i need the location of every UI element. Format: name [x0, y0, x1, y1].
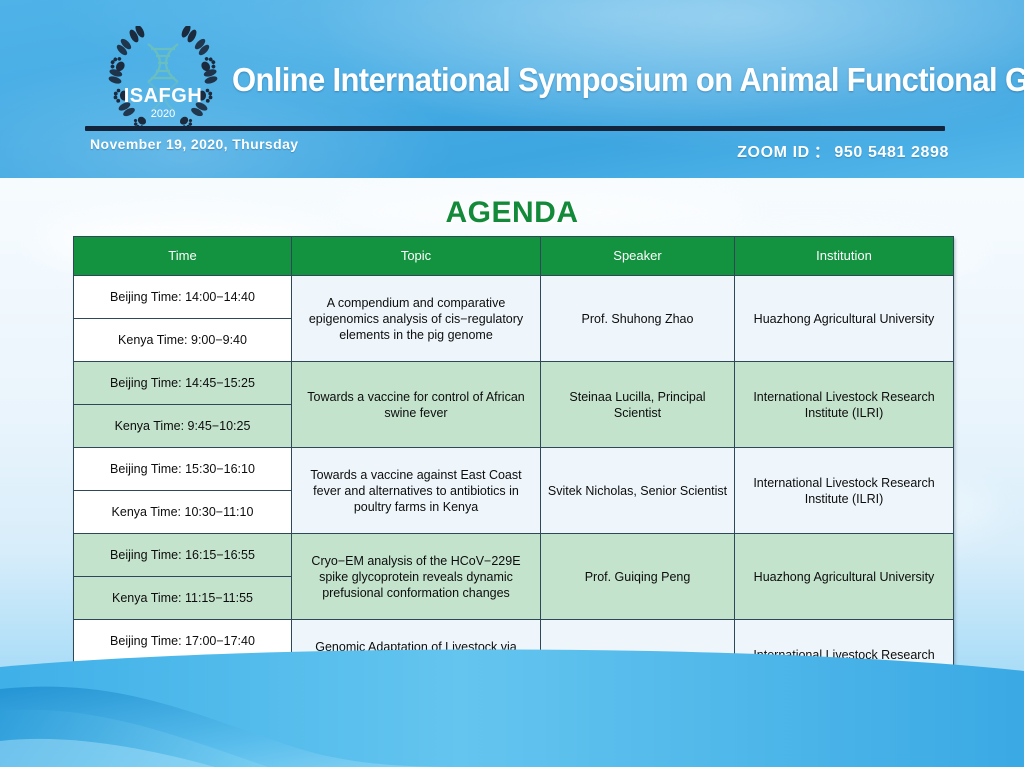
- institution-cell: Huazhong Agricultural University: [735, 276, 954, 362]
- beijing-time-cell: Beijing Time: 17:45−18:25: [74, 706, 292, 749]
- topic-cell: Towards a vaccine for control of African…: [292, 362, 541, 448]
- kenya-time-cell: Kenya Time: 10:30−11:10: [74, 491, 292, 534]
- institution-cell: International Livestock Research Institu…: [735, 362, 954, 448]
- kenya-time-cell: Kenya Time: 9:45−10:25: [74, 405, 292, 448]
- event-date: November 19, 2020, Thursday: [90, 136, 298, 152]
- beijing-time-cell: Beijing Time: 17:00−17:40: [74, 620, 292, 663]
- zoom-id-separator: ：: [814, 144, 831, 161]
- topic-cell: Genomic Adaptation of Livestock via Long…: [292, 620, 541, 706]
- column-header-speaker: Speaker: [541, 237, 735, 276]
- table-row: Beijing Time: 14:45−15:25Towards a vacci…: [74, 362, 954, 405]
- institution-cell: Huazhong Agricultural University: [735, 706, 954, 767]
- speaker-cell: Jianlin Han, Principal Scientist: [541, 620, 735, 706]
- topic-cell: A compendium and comparative epigenomics…: [292, 276, 541, 362]
- kenya-time-cell: Kenya Time: 11:15−11:55: [74, 577, 292, 620]
- topic-cell: Cryo−EM analysis of the HCoV−229E spike …: [292, 534, 541, 620]
- isafgh-logo: ISAFGH 2020: [100, 26, 226, 136]
- kenya-time-cell: Kenya Time: 12:45−13:25: [74, 749, 292, 767]
- zoom-id-label: ZOOM ID: [737, 144, 810, 161]
- beijing-time-cell: Beijing Time: 15:30−16:10: [74, 448, 292, 491]
- speaker-cell: Prof. Shuhong Zhao: [541, 276, 735, 362]
- event-title: Online International Symposium on Animal…: [232, 60, 918, 100]
- kenya-time-cell: Kenya Time: 12:00−12:40: [74, 663, 292, 706]
- table-row: Beijing Time: 17:00−17:40Genomic Adaptat…: [74, 620, 954, 663]
- logo-year-text: 2020: [151, 108, 175, 120]
- beijing-time-cell: Beijing Time: 14:00−14:40: [74, 276, 292, 319]
- agenda-table-wrapper: Time Topic Speaker Institution Beijing T…: [73, 236, 953, 767]
- speaker-cell: Shengsong Xie , Associate Professor: [541, 706, 735, 767]
- speaker-cell: Steinaa Lucilla, Principal Scientist: [541, 362, 735, 448]
- table-row: Beijing Time: 14:00−14:40A compendium an…: [74, 276, 954, 319]
- institution-cell: International Livestock Research Institu…: [735, 448, 954, 534]
- speaker-cell: Svitek Nicholas, Senior Scientist: [541, 448, 735, 534]
- header-banner: ISAFGH 2020 Online International Symposi…: [0, 0, 1024, 178]
- column-header-topic: Topic: [292, 237, 541, 276]
- agenda-table: Time Topic Speaker Institution Beijing T…: [73, 236, 954, 767]
- column-header-institution: Institution: [735, 237, 954, 276]
- agenda-heading: AGENDA: [0, 196, 1024, 230]
- topic-cell: CRISPR/Cas9 for development of disease r…: [292, 706, 541, 767]
- zoom-meeting-id: ZOOM ID：950 5481 2898: [737, 138, 949, 162]
- beijing-time-cell: Beijing Time: 16:15−16:55: [74, 534, 292, 577]
- table-row: Beijing Time: 15:30−16:10Towards a vacci…: [74, 448, 954, 491]
- beijing-time-cell: Beijing Time: 14:45−15:25: [74, 362, 292, 405]
- institution-cell: Huazhong Agricultural University: [735, 534, 954, 620]
- topic-cell: Towards a vaccine against East Coast fev…: [292, 448, 541, 534]
- zoom-id-value: 950 5481 2898: [834, 144, 949, 161]
- kenya-time-cell: Kenya Time: 9:00−9:40: [74, 319, 292, 362]
- speaker-cell: Prof. Guiqing Peng: [541, 534, 735, 620]
- table-row: Beijing Time: 17:45−18:25CRISPR/Cas9 for…: [74, 706, 954, 749]
- slide: ISAFGH 2020 Online International Symposi…: [0, 0, 1024, 767]
- institution-cell: International Livestock Research Institu…: [735, 620, 954, 706]
- agenda-table-header-row: Time Topic Speaker Institution: [74, 237, 954, 276]
- logo-acronym-text: ISAFGH: [124, 85, 203, 107]
- table-row: Beijing Time: 16:15−16:55Cryo−EM analysi…: [74, 534, 954, 577]
- header-divider-rule: [85, 126, 945, 131]
- column-header-time: Time: [74, 237, 292, 276]
